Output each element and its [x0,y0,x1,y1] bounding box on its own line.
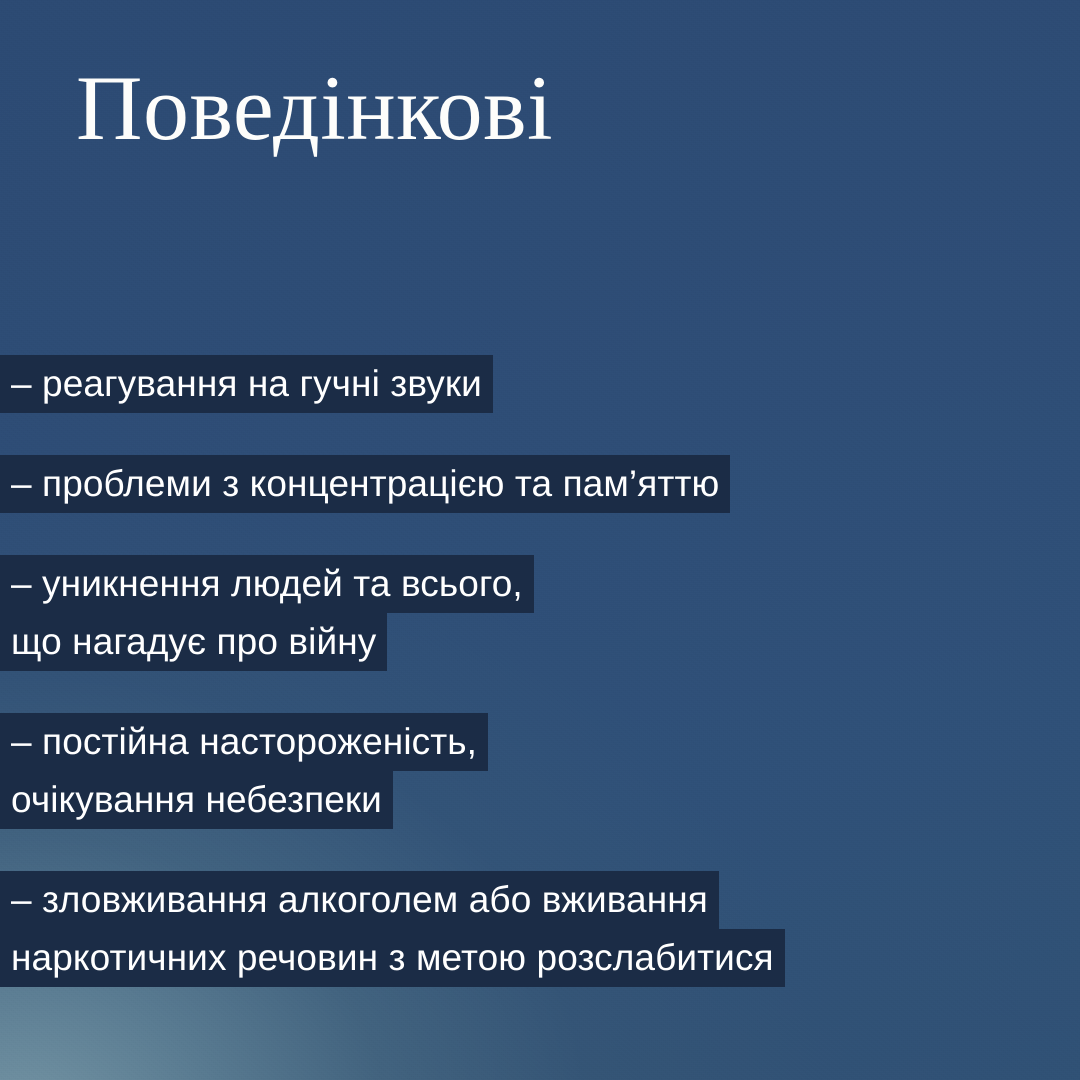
list-item: – постійна настороженість, очікування не… [0,713,1080,829]
page-title: Поведінкові [76,62,553,154]
list-item: – уникнення людей та всього, що нагадує … [0,555,1080,671]
list-item: – проблеми з концентрацією та пам’яттю [0,455,1080,513]
list-item: – реагування на гучні звуки [0,355,1080,413]
list-item-line: – реагування на гучні звуки [0,355,493,413]
slide-background: Поведінкові – реагування на гучні звуки … [0,0,1080,1080]
list-item-line: – проблеми з концентрацією та пам’яттю [0,455,730,513]
list-item: – зловживання алкоголем або вживання нар… [0,871,1080,987]
list-item-line: – зловживання алкоголем або вживання [0,871,719,929]
list-item-line: – постійна настороженість, [0,713,488,771]
list-item-line: наркотичних речовин з метою розслабитися [0,929,785,987]
list-item-line: що нагадує про війну [0,613,387,671]
list-item-line: – уникнення людей та всього, [0,555,534,613]
list-item-line: очікування небезпеки [0,771,393,829]
bullet-list: – реагування на гучні звуки – проблеми з… [0,355,1080,987]
